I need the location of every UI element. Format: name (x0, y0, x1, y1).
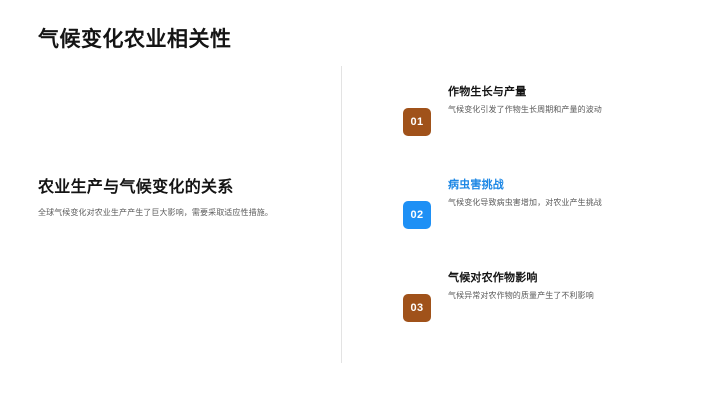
item-text-block: 气候对农作物影响 气候异常对农作物的质量产生了不利影响 (448, 272, 693, 301)
item-title: 病虫害挑战 (448, 179, 693, 193)
left-summary-panel: 农业生产与气候变化的关系 全球气候变化对农业生产产生了巨大影响，需要采取适应性措… (38, 178, 318, 219)
item-text-block: 病虫害挑战 气候变化导致病虫害增加，对农业产生挑战 (448, 179, 693, 208)
item-number-badge: 01 (403, 108, 431, 136)
page-title: 气候变化农业相关性 (38, 27, 232, 52)
column-divider (341, 66, 342, 363)
item-number-badge: 02 (403, 201, 431, 229)
item-number-badge: 03 (403, 294, 431, 322)
key-points-list: 01 作物生长与产量 气候变化引发了作物生长周期和产量的波动 02 病虫害挑战 … (403, 86, 693, 365)
slide-canvas: 气候变化农业相关性 农业生产与气候变化的关系 全球气候变化对农业生产产生了巨大影… (0, 0, 720, 405)
left-panel-description: 全球气候变化对农业生产产生了巨大影响，需要采取适应性措施。 (38, 207, 318, 219)
item-description: 气候变化引发了作物生长周期和产量的波动 (448, 104, 693, 116)
left-panel-heading: 农业生产与气候变化的关系 (38, 178, 318, 198)
list-item[interactable]: 02 病虫害挑战 气候变化导致病虫害增加，对农业产生挑战 (403, 179, 693, 272)
item-description: 气候异常对农作物的质量产生了不利影响 (448, 290, 693, 302)
item-text-block: 作物生长与产量 气候变化引发了作物生长周期和产量的波动 (448, 86, 693, 115)
list-item[interactable]: 01 作物生长与产量 气候变化引发了作物生长周期和产量的波动 (403, 86, 693, 179)
item-title: 作物生长与产量 (448, 86, 693, 100)
list-item[interactable]: 03 气候对农作物影响 气候异常对农作物的质量产生了不利影响 (403, 272, 693, 365)
item-title: 气候对农作物影响 (448, 272, 693, 286)
item-description: 气候变化导致病虫害增加，对农业产生挑战 (448, 197, 693, 209)
